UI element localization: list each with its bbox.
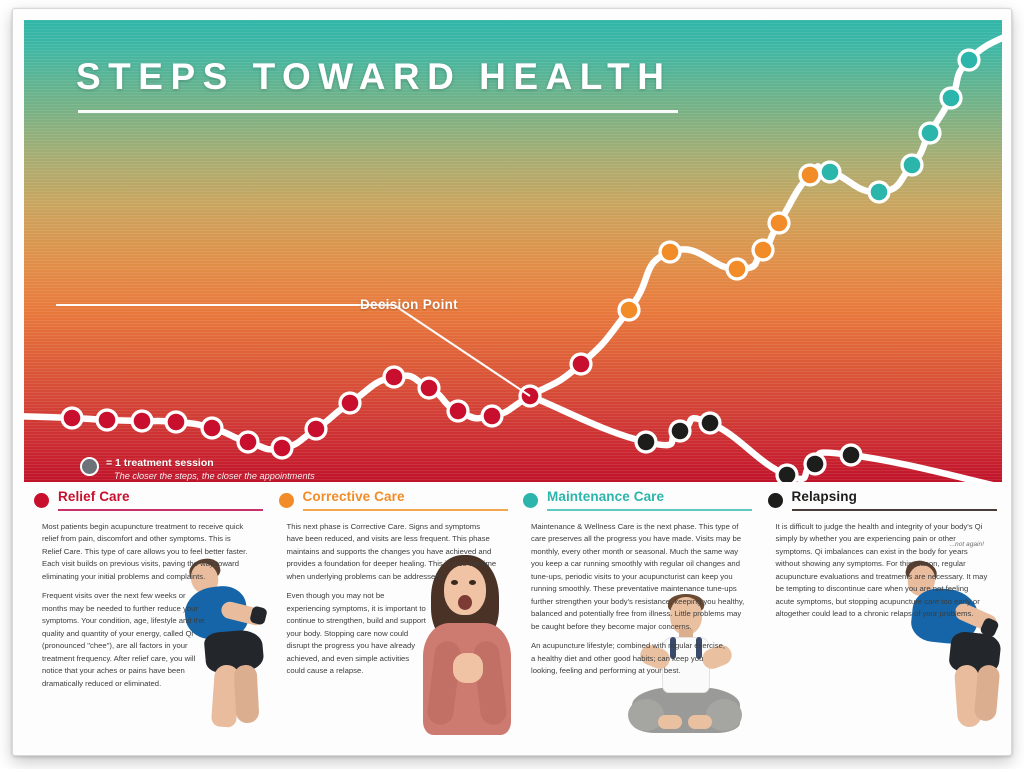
treatment-session-node xyxy=(168,414,185,431)
page-title: STEPS TOWARD HEALTH xyxy=(76,56,671,98)
legend-secondary-label: The closer the steps, the closer the app… xyxy=(114,471,315,482)
column-rule-relief-care xyxy=(58,509,263,511)
treatment-session-node xyxy=(871,184,888,201)
treatment-session-node xyxy=(484,408,501,425)
paragraph: Frequent visits over the next few weeks … xyxy=(42,590,210,690)
paragraph: Even though you may not be experiencing … xyxy=(287,590,427,677)
relapse-line xyxy=(530,396,1002,482)
treatment-session-node xyxy=(702,415,719,432)
treatment-session-node xyxy=(904,157,921,174)
treatment-session-node xyxy=(961,52,978,69)
treatment-session-node xyxy=(274,440,291,457)
column-body-relapsing: It is difficult to judge the health and … xyxy=(776,515,991,621)
column-maintenance-care: Maintenance Care Maintenance & Wellness … xyxy=(513,489,758,745)
treatment-session-node xyxy=(729,261,746,278)
column-rule-relapsing xyxy=(792,509,997,511)
paragraph: It is difficult to judge the health and … xyxy=(776,521,988,621)
treatment-session-node xyxy=(99,412,116,429)
treatment-session-node xyxy=(662,244,679,261)
paragraph: This next phase is Corrective Care. Sign… xyxy=(287,521,499,583)
treatment-session-node xyxy=(421,380,438,397)
column-rule-corrective-care xyxy=(303,509,508,511)
column-header-maintenance-care: Maintenance Care xyxy=(531,489,746,515)
relief-care-bullet-icon xyxy=(34,493,49,508)
treatment-session-node xyxy=(843,447,860,464)
column-title-relief-care: Relief Care xyxy=(58,489,130,504)
column-body-relief-care: Most patients begin acupuncture treatmen… xyxy=(42,515,257,690)
treatment-session-node xyxy=(64,410,81,427)
treatment-session-node xyxy=(204,420,221,437)
treatment-session-node xyxy=(386,369,403,386)
treatment-session-node xyxy=(822,164,839,181)
column-relief-care: Relief Care Most patients begin acupunct… xyxy=(24,489,269,745)
column-header-relapsing: Relapsing xyxy=(776,489,991,515)
column-body-maintenance-care: Maintenance & Wellness Care is the next … xyxy=(531,515,746,678)
treatment-session-node xyxy=(308,421,325,438)
chart-legend: = 1 treatment session The closer the ste… xyxy=(80,456,315,482)
legend-session-dot-icon xyxy=(80,457,99,476)
treatment-session-node xyxy=(450,403,467,420)
treatment-session-node xyxy=(240,434,257,451)
treatment-session-node xyxy=(621,302,638,319)
column-title-corrective-care: Corrective Care xyxy=(303,489,405,504)
paragraph: Most patients begin acupuncture treatmen… xyxy=(42,521,250,583)
chart-nodes xyxy=(60,48,980,482)
column-relapsing: Relapsing It is difficult to judge the h… xyxy=(758,489,1003,745)
corrective-care-bullet-icon xyxy=(279,493,294,508)
treatment-session-node xyxy=(771,215,788,232)
treatment-session-node xyxy=(672,423,689,440)
treatment-session-node xyxy=(807,456,824,473)
maintenance-care-bullet-icon xyxy=(523,493,538,508)
column-rule-maintenance-care xyxy=(547,509,752,511)
paragraph: An acupuncture lifestyle; combined with … xyxy=(531,640,727,677)
column-title-relapsing: Relapsing xyxy=(792,489,857,504)
relapsing-figure-caption: ...not again! xyxy=(950,541,984,548)
legend-primary-label: = 1 treatment session xyxy=(106,457,315,470)
relapsing-bullet-icon xyxy=(768,493,783,508)
column-corrective-care: Corrective Care This next phase is Corre… xyxy=(269,489,514,745)
treatment-session-node xyxy=(134,413,151,430)
column-header-relief-care: Relief Care xyxy=(42,489,257,515)
decision-point-label: Decision Point xyxy=(360,297,458,312)
treatment-session-node xyxy=(638,434,655,451)
column-body-corrective-care: This next phase is Corrective Care. Sign… xyxy=(287,515,502,678)
column-title-maintenance-care: Maintenance Care xyxy=(547,489,664,504)
treatment-session-node xyxy=(573,356,590,373)
decision-point-leader-line xyxy=(56,305,530,396)
care-phase-columns: Relief Care Most patients begin acupunct… xyxy=(24,489,1002,745)
column-header-corrective-care: Corrective Care xyxy=(287,489,502,515)
paragraph: Maintenance & Wellness Care is the next … xyxy=(531,521,745,633)
poster-frame: STEPS TOWARD HEALTH Decision Point = 1 t… xyxy=(12,8,1012,756)
steps-toward-health-chart: STEPS TOWARD HEALTH Decision Point = 1 t… xyxy=(24,20,1002,482)
treatment-session-node xyxy=(943,90,960,107)
treatment-session-node xyxy=(755,242,772,259)
treatment-session-node xyxy=(802,167,819,184)
title-underline xyxy=(78,110,678,113)
treatment-session-node xyxy=(342,395,359,412)
treatment-session-node xyxy=(922,125,939,142)
legend-text-group: = 1 treatment session The closer the ste… xyxy=(106,456,315,482)
